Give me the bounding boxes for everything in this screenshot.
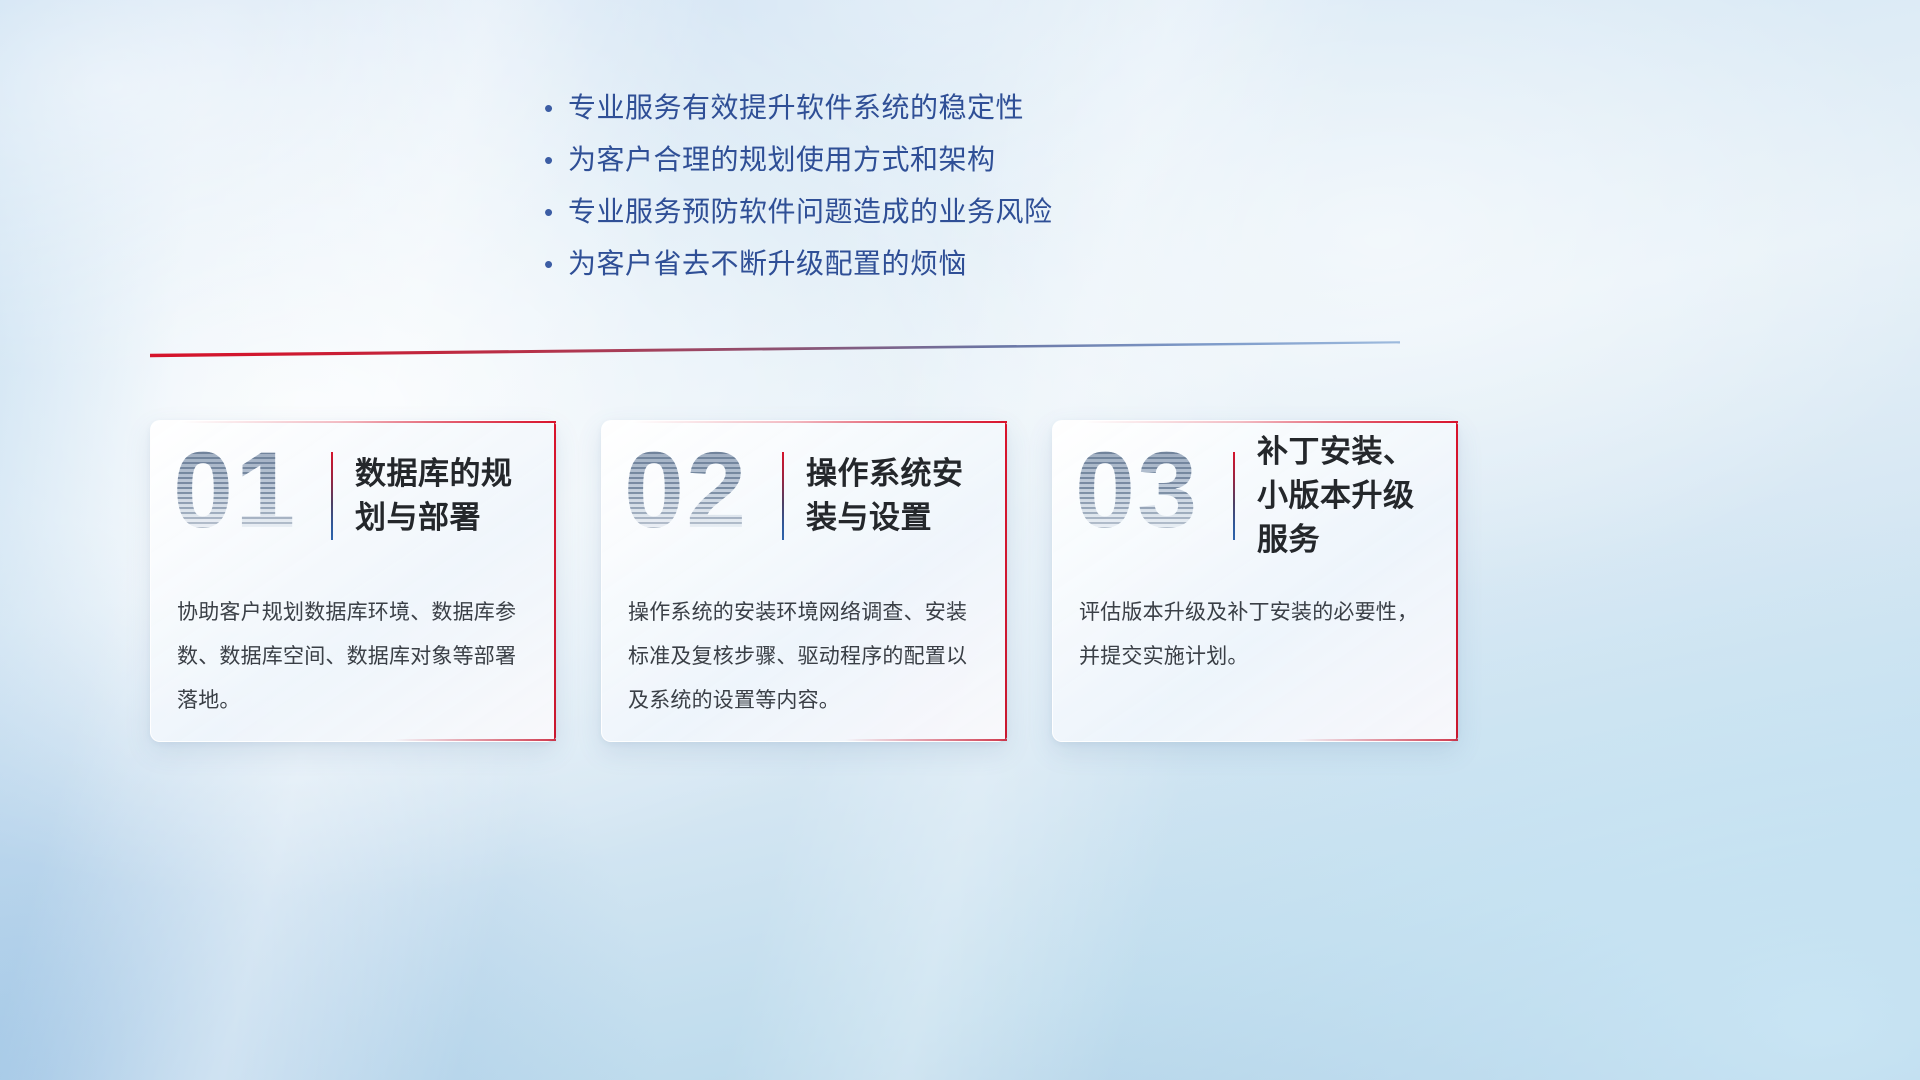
card-header: 03 补丁安装、小版本升级服务 [1053, 421, 1458, 571]
card-bottom-accent [1296, 739, 1458, 741]
card-bottom-accent [845, 739, 1007, 741]
list-item: • 专业服务预防软件问题造成的业务风险 [540, 190, 1500, 242]
card-title-divider-icon [331, 452, 333, 540]
card-title: 数据库的规划与部署 [355, 452, 530, 540]
slide-canvas: • 专业服务有效提升软件系统的稳定性 • 为客户合理的规划使用方式和架构 • 专… [0, 0, 1920, 1080]
card-bottom-accent [394, 739, 556, 741]
bullet-dot-icon: • [540, 190, 568, 234]
divider-rule-icon [150, 340, 1400, 362]
service-card[interactable]: 01 数据库的规划与部署 协助客户规划数据库环境、数据库参数、数据库空间、数据库… [150, 420, 556, 742]
card-description: 评估版本升级及补丁安装的必要性，并提交实施计划。 [1053, 571, 1458, 679]
list-item: • 专业服务有效提升软件系统的稳定性 [540, 86, 1500, 138]
card-title-divider-icon [1233, 452, 1235, 540]
card-title: 操作系统安装与设置 [806, 452, 981, 540]
card-number-text: 02 [624, 441, 748, 551]
card-number-watermark: 02 [624, 441, 776, 551]
card-description: 协助客户规划数据库环境、数据库参数、数据库空间、数据库对象等部署落地。 [151, 571, 556, 723]
card-description: 操作系统的安装环境网络调查、安装标准及复核步骤、驱动程序的配置以及系统的设置等内… [602, 571, 1007, 723]
section-divider [150, 340, 1400, 362]
service-card[interactable]: 03 补丁安装、小版本升级服务 评估版本升级及补丁安装的必要性，并提交实施计划。 [1052, 420, 1458, 742]
bullet-text: 专业服务预防软件问题造成的业务风险 [568, 190, 1053, 234]
card-header: 01 数据库的规划与部署 [151, 421, 556, 571]
bullet-dot-icon: • [540, 242, 568, 286]
bullet-dot-icon: • [540, 138, 568, 182]
card-title-divider-icon [782, 452, 784, 540]
bullet-text: 为客户省去不断升级配置的烦恼 [568, 242, 967, 286]
bullet-text: 专业服务有效提升软件系统的稳定性 [568, 86, 1024, 130]
card-number-watermark: 03 [1075, 441, 1227, 551]
service-card[interactable]: 02 操作系统安装与设置 操作系统的安装环境网络调查、安装标准及复核步骤、驱动程… [601, 420, 1007, 742]
bullet-dot-icon: • [540, 86, 568, 130]
list-item: • 为客户省去不断升级配置的烦恼 [540, 242, 1500, 294]
service-card-list: 01 数据库的规划与部署 协助客户规划数据库环境、数据库参数、数据库空间、数据库… [150, 420, 1460, 742]
card-number-watermark: 01 [173, 441, 325, 551]
card-header: 02 操作系统安装与设置 [602, 421, 1007, 571]
card-title: 补丁安装、小版本升级服务 [1257, 430, 1432, 562]
card-number-text: 01 [173, 441, 297, 551]
bullet-text: 为客户合理的规划使用方式和架构 [568, 138, 996, 182]
benefits-bullet-list: • 专业服务有效提升软件系统的稳定性 • 为客户合理的规划使用方式和架构 • 专… [540, 86, 1500, 294]
card-number-text: 03 [1075, 441, 1199, 551]
list-item: • 为客户合理的规划使用方式和架构 [540, 138, 1500, 190]
